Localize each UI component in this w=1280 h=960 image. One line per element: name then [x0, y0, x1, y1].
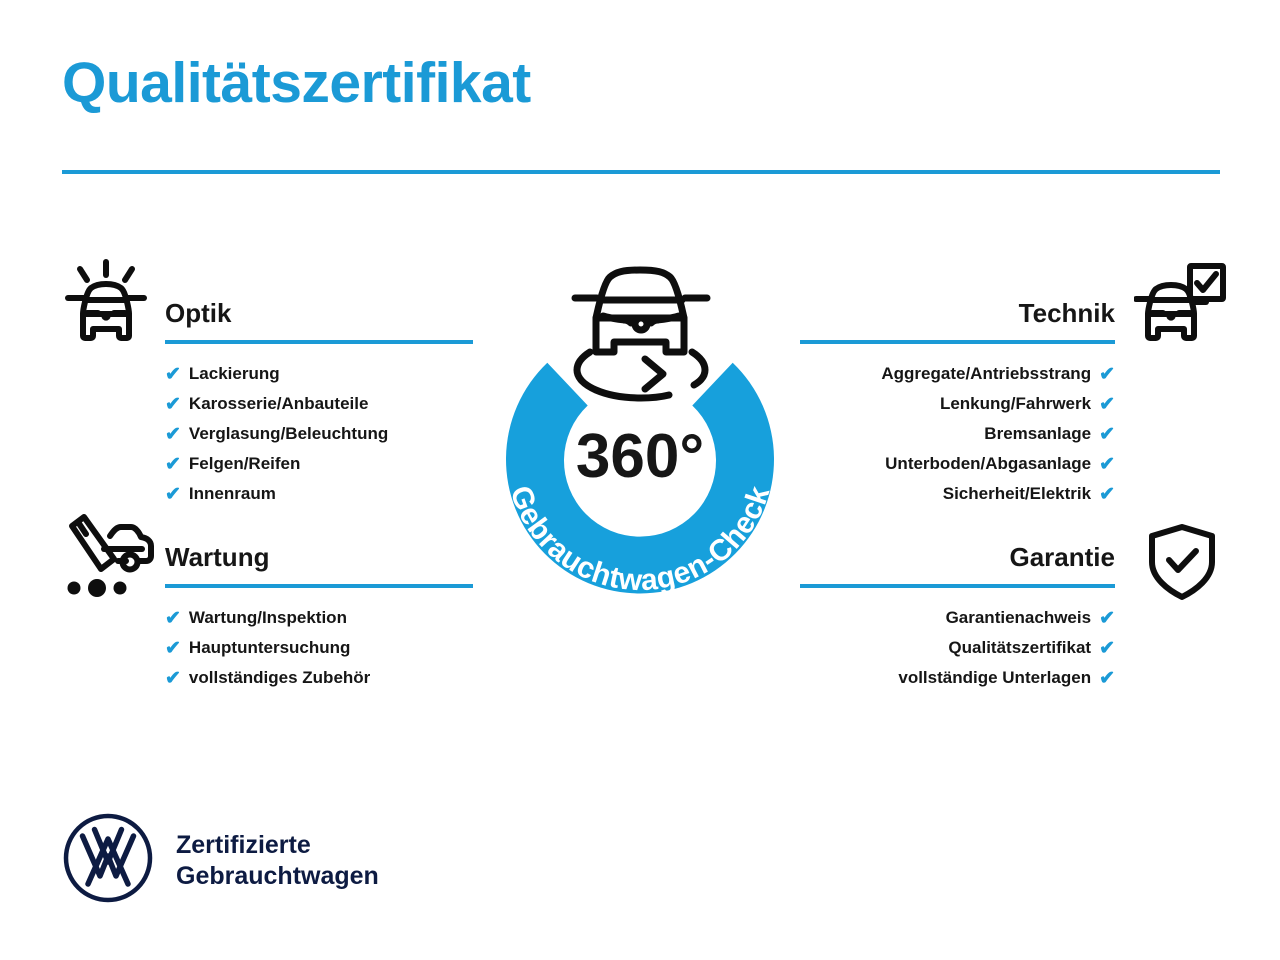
- checklist-wartung: ✔Wartung/Inspektion ✔Hauptuntersuchung ✔…: [165, 603, 473, 693]
- list-item-label: Felgen/Reifen: [189, 449, 300, 479]
- section-title: Technik: [800, 296, 1115, 330]
- footer-branding: Zertifizierte Gebrauchtwagen: [62, 812, 379, 909]
- section-title: Garantie: [800, 540, 1115, 574]
- check-icon: ✔: [165, 485, 181, 504]
- pen-car-service-icon: [58, 512, 156, 605]
- section-wartung: Wartung ✔Wartung/Inspektion ✔Hauptunters…: [165, 540, 473, 693]
- section-divider: [800, 584, 1115, 588]
- car-shine-icon: [58, 258, 154, 355]
- section-divider: [165, 584, 473, 588]
- check-icon: ✔: [165, 365, 181, 384]
- list-item: Sicherheit/Elektrik✔: [800, 479, 1115, 509]
- section-header-wartung: Wartung: [165, 540, 473, 592]
- section-title: Wartung: [165, 540, 473, 574]
- list-item: ✔vollständiges Zubehör: [165, 663, 473, 693]
- check-icon: ✔: [1099, 455, 1115, 474]
- list-item: Lenkung/Fahrwerk✔: [800, 389, 1115, 419]
- list-item-label: vollständige Unterlagen: [898, 663, 1091, 693]
- list-item-label: Sicherheit/Elektrik: [943, 479, 1091, 509]
- shield-check-icon: [1146, 522, 1218, 607]
- list-item: vollständige Unterlagen✔: [800, 663, 1115, 693]
- check-icon: ✔: [165, 609, 181, 628]
- list-item-label: Lackierung: [189, 359, 280, 389]
- list-item: ✔Hauptuntersuchung: [165, 633, 473, 663]
- list-item: Garantienachweis✔: [800, 603, 1115, 633]
- check-icon: ✔: [1099, 395, 1115, 414]
- section-garantie: Garantie Garantienachweis✔ Qualitätszert…: [800, 540, 1115, 693]
- list-item: Bremsanlage✔: [800, 419, 1115, 449]
- car-rotation-icon: [575, 270, 707, 398]
- volkswagen-logo: [62, 812, 154, 909]
- list-item-label: Verglasung/Beleuchtung: [189, 419, 388, 449]
- list-item: ✔Innenraum: [165, 479, 473, 509]
- list-item: ✔Felgen/Reifen: [165, 449, 473, 479]
- page-title: Qualitätszertifikat: [62, 55, 531, 112]
- list-item-label: Unterboden/Abgasanlage: [885, 449, 1091, 479]
- check-icon: ✔: [1099, 365, 1115, 384]
- list-item: ✔Verglasung/Beleuchtung: [165, 419, 473, 449]
- check-icon: ✔: [1099, 425, 1115, 444]
- footer-text: Zertifizierte Gebrauchtwagen: [176, 830, 379, 892]
- section-header-garantie: Garantie: [800, 540, 1115, 592]
- checklist-technik: Aggregate/Antriebsstrang✔ Lenkung/Fahrwe…: [800, 359, 1115, 509]
- check-icon: ✔: [1099, 639, 1115, 658]
- check-icon: ✔: [165, 669, 181, 688]
- certificate-page: Qualitätszertifikat: [0, 0, 1280, 960]
- list-item-label: Lenkung/Fahrwerk: [940, 389, 1091, 419]
- list-item-label: Garantienachweis: [946, 603, 1092, 633]
- car-checkbox-icon: [1134, 262, 1226, 355]
- header-divider: [62, 170, 1220, 174]
- list-item-label: Wartung/Inspektion: [189, 603, 347, 633]
- list-item-label: vollständiges Zubehör: [189, 663, 370, 693]
- check-icon: ✔: [1099, 485, 1115, 504]
- list-item: ✔Lackierung: [165, 359, 473, 389]
- footer-line-2: Gebrauchtwagen: [176, 861, 379, 892]
- list-item: Qualitätszertifikat✔: [800, 633, 1115, 663]
- check-icon: ✔: [165, 639, 181, 658]
- check-icon: ✔: [165, 455, 181, 474]
- list-item: ✔Karosserie/Anbauteile: [165, 389, 473, 419]
- check-icon: ✔: [1099, 669, 1115, 688]
- list-item-label: Innenraum: [189, 479, 276, 509]
- section-header-technik: Technik: [800, 296, 1115, 348]
- section-header-optik: Optik: [165, 296, 473, 348]
- badge-center-label: 360°: [455, 426, 825, 488]
- section-title: Optik: [165, 296, 473, 330]
- checklist-garantie: Garantienachweis✔ Qualitätszertifikat✔ v…: [800, 603, 1115, 693]
- list-item-label: Karosserie/Anbauteile: [189, 389, 369, 419]
- list-item-label: Hauptuntersuchung: [189, 633, 351, 663]
- check-icon: ✔: [1099, 609, 1115, 628]
- section-divider: [800, 340, 1115, 344]
- list-item: Unterboden/Abgasanlage✔: [800, 449, 1115, 479]
- footer-line-1: Zertifizierte: [176, 830, 379, 861]
- list-item: ✔Wartung/Inspektion: [165, 603, 473, 633]
- section-technik: Technik Aggregate/Antriebsstrang✔ Lenkun…: [800, 296, 1115, 509]
- list-item-label: Aggregate/Antriebsstrang: [881, 359, 1091, 389]
- check-icon: ✔: [165, 395, 181, 414]
- list-item-label: Qualitätszertifikat: [948, 633, 1091, 663]
- check-icon: ✔: [165, 425, 181, 444]
- badge-360-gebrauchtwagen-check: Gebrauchtwagen-Check 360°: [455, 248, 825, 638]
- section-divider: [165, 340, 473, 344]
- section-optik: Optik ✔Lackierung ✔Karosserie/Anbauteile…: [165, 296, 473, 509]
- checklist-optik: ✔Lackierung ✔Karosserie/Anbauteile ✔Verg…: [165, 359, 473, 509]
- list-item-label: Bremsanlage: [984, 419, 1091, 449]
- list-item: Aggregate/Antriebsstrang✔: [800, 359, 1115, 389]
